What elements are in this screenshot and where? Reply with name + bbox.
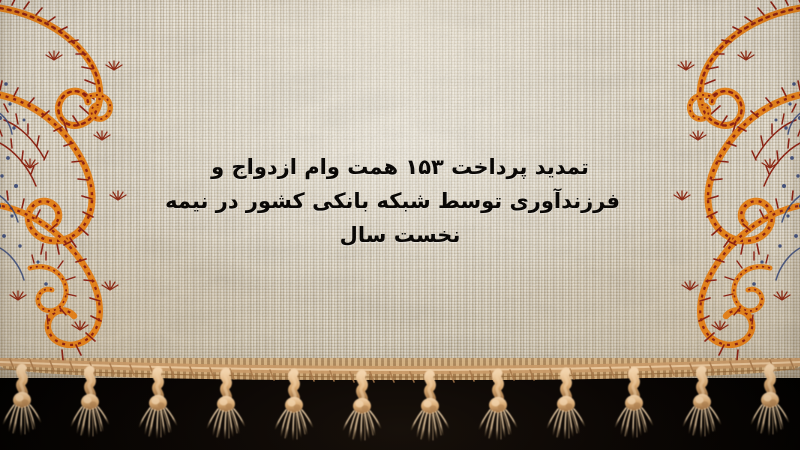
- headline-line-2: فرزندآوری توسط شبکه بانکی کشور در نیمه: [180, 184, 620, 218]
- headline-line-1: تمدید پرداخت ۱۵۳ همت وام ازدواج و: [180, 150, 620, 184]
- screenshot-canvas: تمدید پرداخت ۱۵۳ همت وام ازدواج و فرزندآ…: [0, 0, 800, 450]
- cloth-hem-cord: [0, 358, 800, 380]
- headline-line-3: نخست سال: [180, 218, 620, 252]
- headline-text: تمدید پرداخت ۱۵۳ همت وام ازدواج و فرزندآ…: [180, 150, 620, 252]
